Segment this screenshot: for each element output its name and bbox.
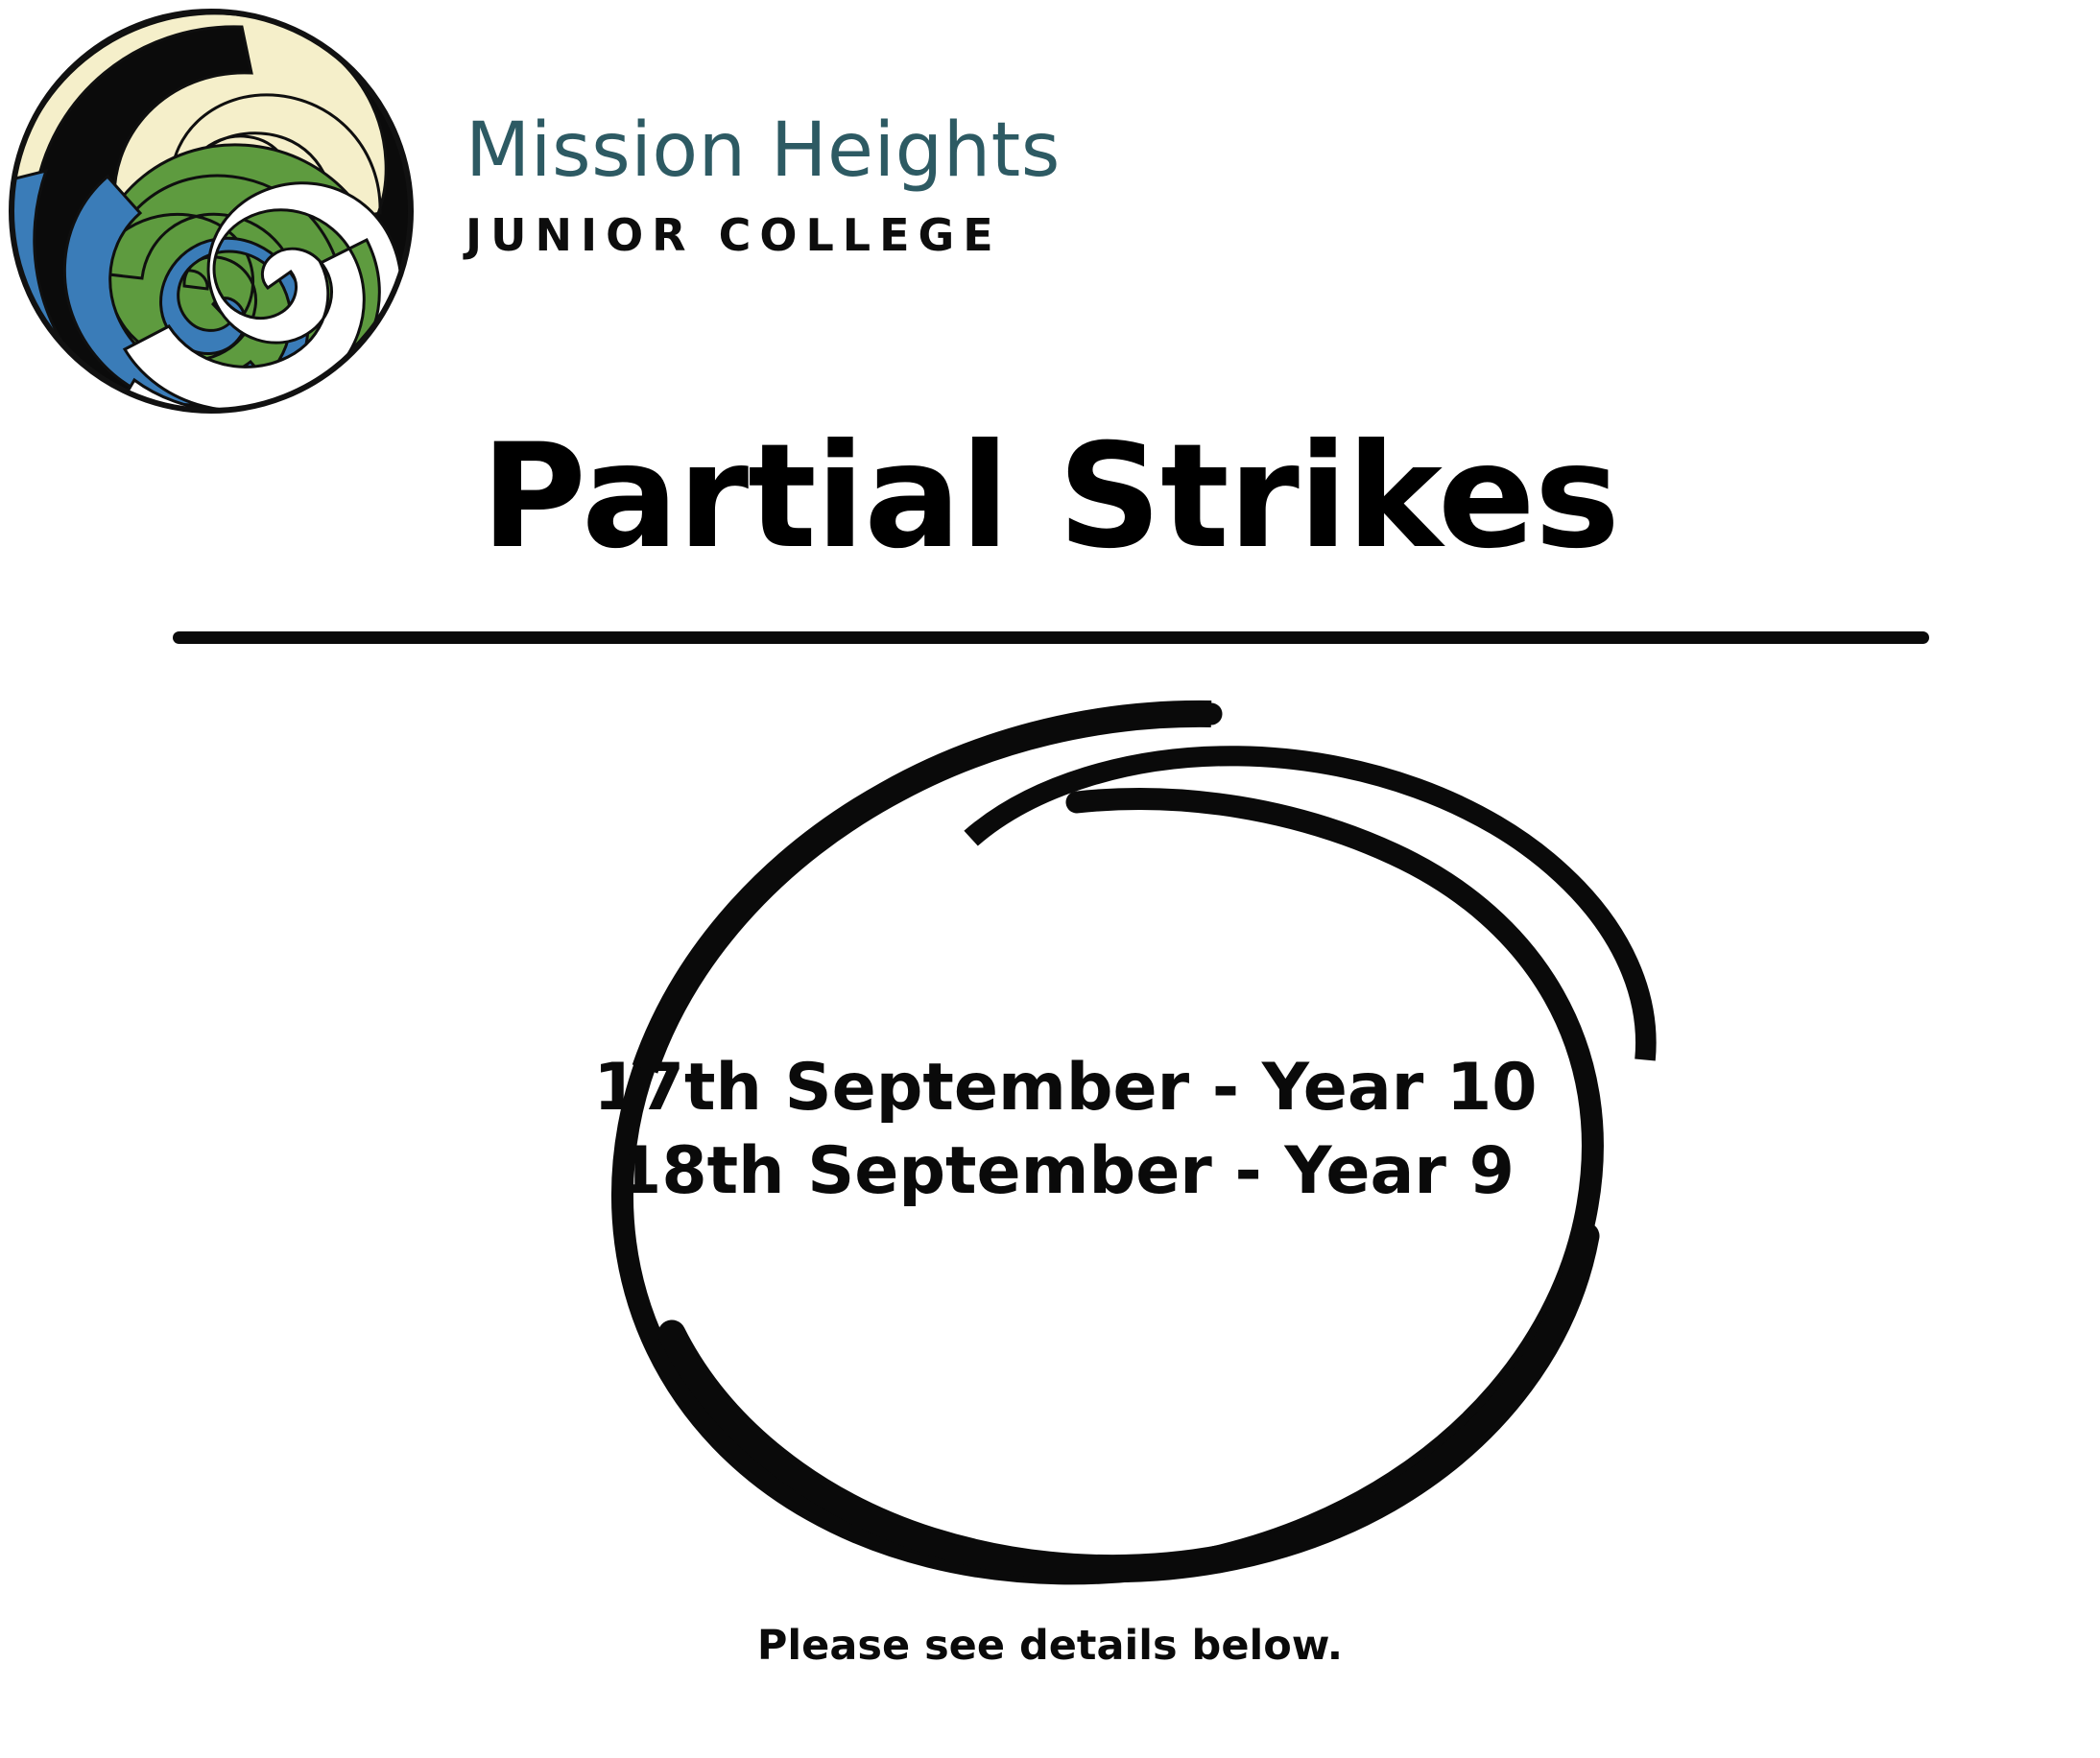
brand-wordmark: Mission Heights JUNIOR COLLEGE: [465, 113, 1137, 257]
footnote-text: Please see details below.: [0, 1622, 2100, 1670]
poster-canvas: Mission Heights JUNIOR COLLEGE Partial S…: [0, 0, 2100, 1758]
koru-spiral-circle-logo-icon: [0, 0, 422, 422]
strike-date-line: 18th September - Year 9: [432, 1129, 1699, 1213]
page-title: Partial Strikes: [0, 422, 2100, 574]
brand-name: Mission Heights: [465, 113, 1137, 188]
strike-dates-list: 17th September - Year 10 18th September …: [432, 1046, 1699, 1213]
brand-lockup: Mission Heights JUNIOR COLLEGE: [0, 0, 1152, 422]
strike-date-line: 17th September - Year 10: [432, 1046, 1699, 1129]
brand-subtitle: JUNIOR COLLEGE: [465, 213, 1137, 257]
horizontal-divider: [173, 631, 1929, 644]
highlighted-dates-group: 17th September - Year 10 18th September …: [432, 662, 1699, 1631]
